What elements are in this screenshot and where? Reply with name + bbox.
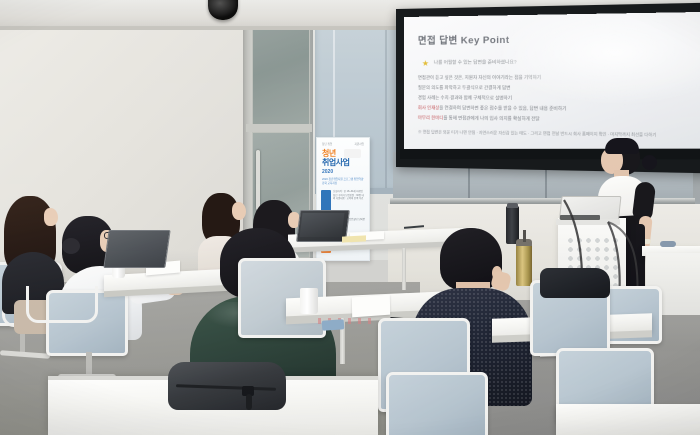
glass-door-upper-pane [252, 16, 310, 128]
center-desk-cup[interactable] [300, 288, 318, 314]
star-icon: ★ [422, 59, 429, 68]
banner-title-line1: 청년 [322, 150, 336, 158]
slide-bullet-4-highlight: 회사 인재상 [418, 105, 439, 110]
slide-bullet-5-rest: 를 통해 면접관에게 나의 입사 의지를 확실하게 전달 [443, 115, 539, 121]
banner-body-text: 신청자격 : 만 18~34세 미취업 청년 구직자 모집인원 : 30명 내외… [333, 190, 365, 201]
center-desk-handout[interactable] [352, 295, 390, 318]
banner-badge [344, 149, 361, 158]
student-2-hair-tie [62, 238, 80, 254]
coat-on-chair [540, 268, 610, 298]
presenter-hair-front [605, 138, 639, 154]
foreground-desk-right [556, 404, 700, 435]
middle-desk-leg-1 [402, 248, 406, 290]
slide-bullet-5-highlight: 마무리 한마디 [418, 115, 443, 120]
middle-desk-sticky-note[interactable] [342, 235, 366, 242]
slide-footer: ※ 면접 답변은 외운 티가 나면 안됨 · 자연스러운 자신감 있는 태도 ·… [418, 129, 656, 138]
door-handle[interactable] [256, 150, 260, 210]
banner-blue-block [321, 190, 331, 212]
projector-screen-surface: 면접 답변 Key Point ★ 나를 어필할 수 있는 답변을 준비하셨나요… [404, 12, 700, 154]
student-3-face [232, 202, 246, 220]
blind-seam-right [385, 12, 387, 194]
student-1-face [44, 208, 58, 226]
banner-top-right: 지원사업 [354, 142, 364, 146]
student-2-laptop[interactable] [103, 230, 170, 268]
slide-lead-text: 나를 어필할 수 있는 답변을 준비하셨나요? [434, 59, 517, 66]
banner-top-row: 청년 취업 지원사업 [322, 142, 364, 146]
chair-left-1-arm [26, 286, 98, 323]
slide-title: 면접 답변 Key Point [418, 32, 510, 47]
gold-tumbler[interactable] [516, 244, 532, 286]
banner-title-line2: 취업사업 [322, 159, 349, 167]
slide-bullet-3: 경험 사례는 수치·결과와 함께 구체적으로 설명하기 [418, 95, 512, 101]
classroom-photo: 면접 답변 Key Point ★ 나를 어필할 수 있는 답변을 준비하셨나요… [0, 0, 700, 435]
center-desk-phone[interactable] [322, 319, 345, 331]
gold-tumbler-straw [523, 230, 526, 242]
glass-door-mullion [246, 124, 312, 132]
slide-bullet-4: 회사 인재상을 연결하여 답변하면 좋은 점수를 받을 수 있음, 답변 내용 … [418, 105, 567, 112]
chair-foreground-right[interactable] [386, 372, 488, 435]
banner-year: 2020 [322, 169, 333, 175]
slide-bullet-1: 면접관이 듣고 싶은 것은, 지원자 자신의 이야기라는 점을 기억하기 [418, 75, 541, 81]
thermos-rear-cap [507, 203, 518, 208]
banner-subtitle: 2020 청년취업지원 프로그램 취업역량 강화 교육과정 [322, 178, 364, 186]
side-table-object [660, 241, 676, 247]
backpack-strap [246, 394, 252, 410]
slide-bullet-4-rest: 을 연결하여 답변하면 좋은 점수를 받을 수 있음, 답변 내용 준비하기 [439, 105, 566, 111]
student-4-laptop-screen [300, 213, 345, 237]
slide-bullet-5: 마무리 한마디를 통해 면접관에게 나의 입사 의지를 확실하게 전달 [418, 115, 540, 122]
banner-top-left: 청년 취업 [322, 142, 332, 146]
slide-bullet-2: 질문의 의도를 파악하고 두괄식으로 간결하게 답변 [418, 85, 511, 91]
presenter-hair-bun [642, 155, 657, 170]
